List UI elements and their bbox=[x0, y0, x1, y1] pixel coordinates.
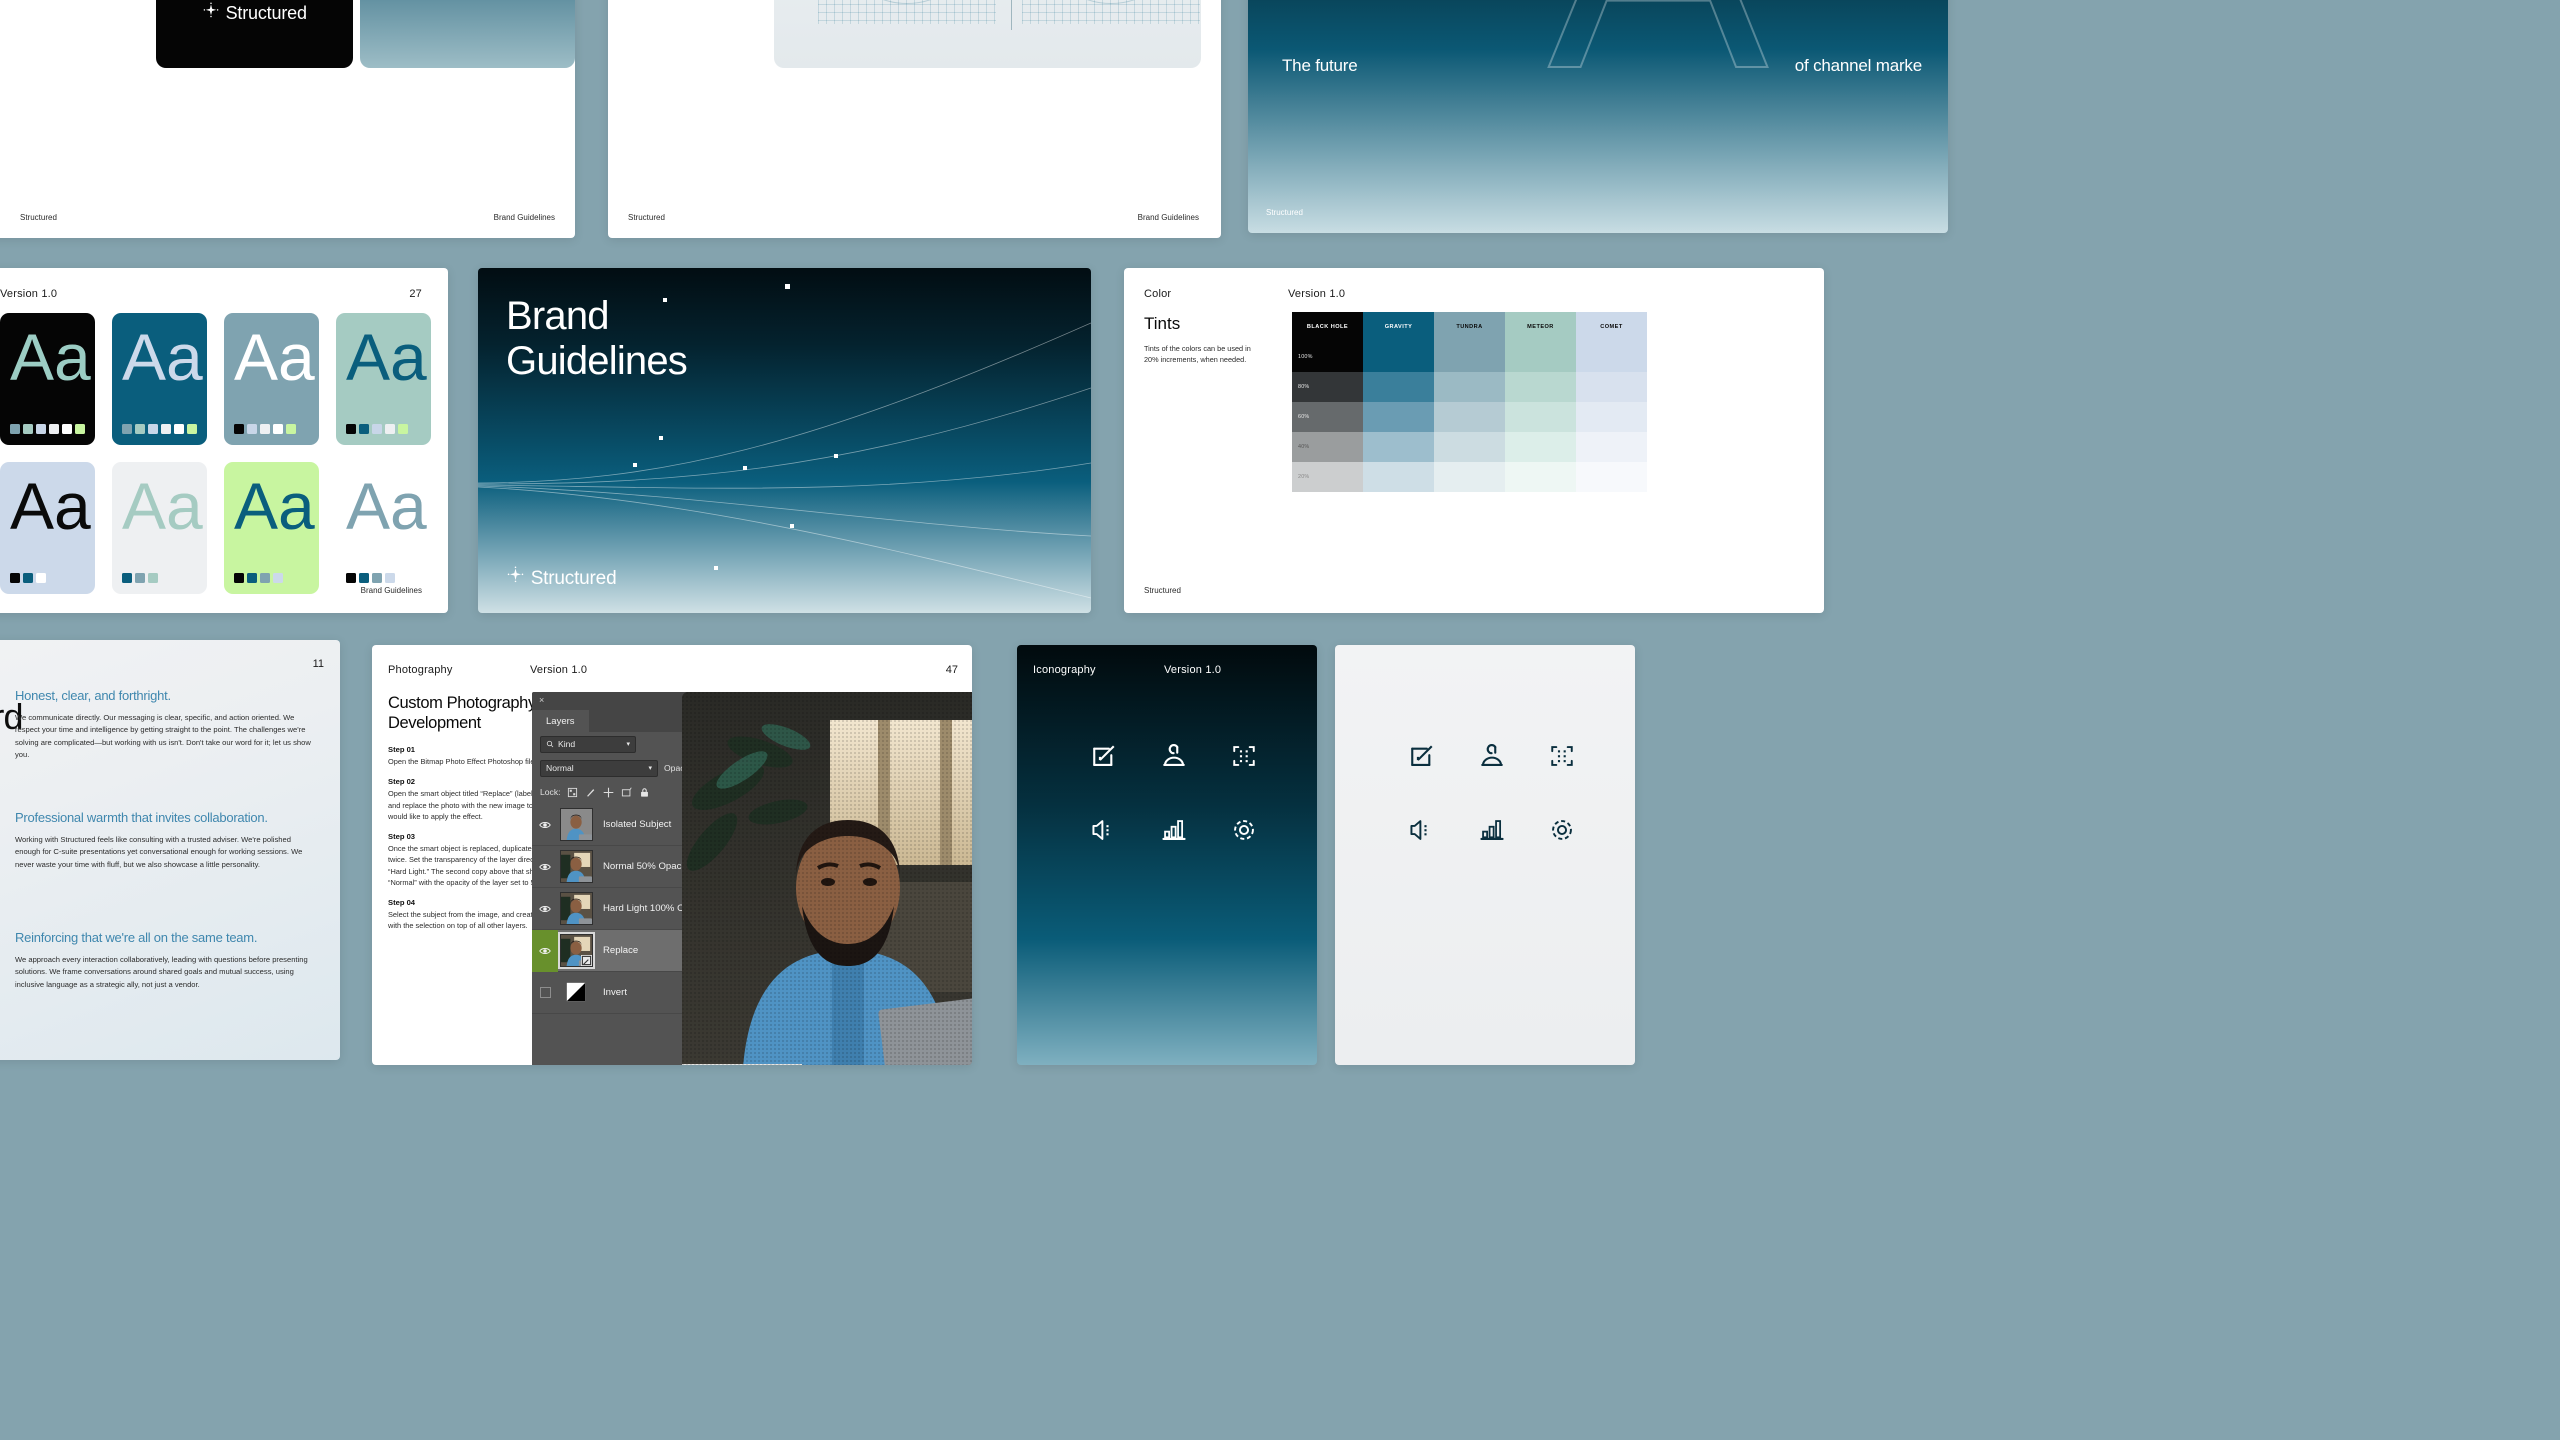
blend-mode-select[interactable]: Normal ▾ bbox=[540, 760, 658, 777]
wordmark-text: Structured bbox=[226, 3, 307, 24]
color-swatch bbox=[385, 424, 395, 434]
headline-left: The future bbox=[1282, 56, 1358, 76]
layer-thumbnail bbox=[560, 850, 593, 883]
tint-cell: 20% bbox=[1292, 462, 1363, 492]
cover-title-line1: Brand bbox=[506, 294, 687, 339]
color-swatch bbox=[148, 424, 158, 434]
slide-page-number: 27 bbox=[409, 288, 422, 300]
slide-footer-brand: Structured bbox=[1266, 208, 1303, 217]
slide-footer-doc: Brand Guidelines bbox=[361, 586, 422, 595]
logo-card-dark: Structured bbox=[156, 0, 353, 68]
tint-cell bbox=[1434, 342, 1505, 372]
color-swatch bbox=[398, 424, 408, 434]
tint-column: GRAVITY bbox=[1363, 312, 1434, 492]
headline-text: The future of channel marke bbox=[1282, 56, 1922, 76]
type-color-card[interactable]: Aa bbox=[112, 462, 207, 594]
type-card-swatches bbox=[10, 573, 46, 583]
tint-cell bbox=[1434, 372, 1505, 402]
tints-description: Tints of the colors can be used in 20% i… bbox=[1144, 344, 1264, 366]
chevron-down-icon: ▾ bbox=[626, 740, 630, 748]
tint-column-header: TUNDRA bbox=[1434, 312, 1505, 342]
slide-headline-gradient[interactable]: A The future of channel marke Structured bbox=[1248, 0, 1948, 233]
slide-iconography-dark[interactable]: Iconography Version 1.0 bbox=[1017, 645, 1317, 1065]
tint-cell bbox=[1505, 462, 1576, 492]
tint-cell bbox=[1576, 372, 1647, 402]
tint-cell: 100% bbox=[1292, 342, 1363, 372]
slide-cover[interactable]: Brand Guidelines Structured bbox=[478, 268, 1091, 613]
layer-thumbnail bbox=[560, 976, 593, 1009]
lock-position-icon[interactable] bbox=[603, 787, 614, 798]
color-swatch bbox=[359, 424, 369, 434]
icon-construction-panel: 3 boxes thick 36 bbox=[774, 0, 1201, 68]
color-swatch bbox=[234, 424, 244, 434]
type-sample-aa: Aa bbox=[234, 317, 315, 398]
tint-cell bbox=[1434, 402, 1505, 432]
color-swatch bbox=[135, 573, 145, 583]
color-swatch bbox=[49, 424, 59, 434]
edit-note-icon bbox=[836, 0, 978, 2]
scan-frame-icon bbox=[1549, 743, 1575, 769]
color-swatch bbox=[187, 424, 197, 434]
layer-name: Isolated Subject bbox=[603, 819, 671, 830]
color-swatch bbox=[372, 424, 382, 434]
type-color-card[interactable]: Aa bbox=[0, 462, 95, 594]
filter-kind-select[interactable]: Kind ▾ bbox=[540, 736, 636, 753]
sparkle-icon bbox=[506, 566, 525, 591]
eye-visible-icon[interactable] bbox=[532, 930, 558, 972]
tint-column-header: COMET bbox=[1576, 312, 1647, 342]
color-swatch bbox=[273, 424, 283, 434]
tab-layers[interactable]: Layers bbox=[532, 710, 589, 732]
tint-row-label: 40% bbox=[1298, 444, 1309, 450]
slide-icon-construction[interactable]: boxes thick. All icons should be a singl… bbox=[608, 0, 1221, 238]
type-card-swatches bbox=[346, 424, 408, 434]
slide-logo-usage[interactable]: (two of our branded colors). Always sele… bbox=[0, 0, 575, 238]
color-swatch bbox=[135, 424, 145, 434]
color-swatch bbox=[346, 573, 356, 583]
color-swatch bbox=[372, 573, 382, 583]
tint-row-label: 100% bbox=[1298, 354, 1313, 360]
tint-cell bbox=[1576, 432, 1647, 462]
lock-all-icon[interactable] bbox=[639, 787, 650, 798]
color-swatch bbox=[385, 573, 395, 583]
logo-lockup-dark: Structured bbox=[202, 2, 307, 25]
slide-footer-doc: Brand Guidelines bbox=[1138, 213, 1199, 222]
type-card-swatches bbox=[122, 424, 197, 434]
search-icon bbox=[546, 740, 554, 748]
slide-voice-and-tone[interactable]: 11 StraightforwardHonest, clear, and for… bbox=[0, 640, 340, 1060]
tint-cell bbox=[1505, 342, 1576, 372]
color-swatch bbox=[260, 424, 270, 434]
color-swatch bbox=[174, 424, 184, 434]
voice-attribute-heading: Reinforcing that we're all on the same t… bbox=[15, 930, 257, 945]
slide-eyebrow-section: Iconography bbox=[1033, 664, 1096, 676]
type-sample-aa: Aa bbox=[10, 466, 91, 547]
type-sample-aa: Aa bbox=[122, 466, 203, 547]
slide-footer-brand: Structured bbox=[1144, 586, 1181, 595]
type-sample-aa: Aa bbox=[346, 317, 427, 398]
tint-cell bbox=[1363, 372, 1434, 402]
headline-right: of channel marke bbox=[1795, 56, 1922, 76]
cover-title-line2: Guidelines bbox=[506, 339, 687, 384]
color-swatch bbox=[10, 573, 20, 583]
type-card-swatches bbox=[10, 424, 85, 434]
voice-attribute-heading: Honest, clear, and forthright. bbox=[15, 688, 171, 703]
volume-speaker-icon bbox=[1091, 817, 1117, 843]
lock-transparent-icon[interactable] bbox=[567, 787, 578, 798]
layer-name: Invert bbox=[603, 987, 627, 998]
page-title: Tints bbox=[1144, 314, 1180, 334]
color-swatch bbox=[247, 573, 257, 583]
slide-page-number: 47 bbox=[946, 664, 958, 676]
tint-column-header: GRAVITY bbox=[1363, 312, 1434, 342]
color-swatch bbox=[161, 424, 171, 434]
eye-visible-icon[interactable] bbox=[532, 804, 558, 846]
target-settings-icon bbox=[1231, 817, 1257, 843]
color-swatch bbox=[148, 573, 158, 583]
color-swatch bbox=[36, 424, 46, 434]
bar-chart-icon bbox=[1161, 817, 1187, 843]
wordmark-text: Structured bbox=[531, 568, 617, 590]
layer-thumbnail bbox=[560, 892, 593, 925]
type-sample-aa: Aa bbox=[346, 466, 427, 547]
cover-logo: Structured bbox=[506, 566, 616, 591]
tint-cell bbox=[1363, 462, 1434, 492]
close-icon[interactable]: × bbox=[539, 695, 544, 705]
layer-thumbnail bbox=[560, 808, 593, 841]
type-color-card[interactable]: Aa bbox=[224, 313, 319, 445]
type-card-swatches bbox=[346, 573, 395, 583]
tint-cell bbox=[1505, 402, 1576, 432]
type-sample-aa: Aa bbox=[234, 466, 315, 547]
tint-column: BLACK HOLE100%80%60%40%20% bbox=[1292, 312, 1363, 492]
tint-cell bbox=[1505, 432, 1576, 462]
layer-name: Replace bbox=[603, 945, 638, 956]
slide-eyebrow-section: Color bbox=[1144, 288, 1171, 300]
slide-iconography-light[interactable] bbox=[1335, 645, 1635, 1065]
edit-note-icon bbox=[1409, 743, 1435, 769]
eye-hidden-checkbox[interactable] bbox=[532, 972, 558, 1014]
lock-label: Lock: bbox=[540, 787, 561, 797]
user-profile-icon bbox=[1161, 743, 1187, 769]
color-swatch bbox=[23, 573, 33, 583]
voice-attribute-body: Working with Structured feels like consu… bbox=[15, 834, 315, 871]
layer-name: Normal 50% Opacity bbox=[603, 861, 691, 872]
slide-eyebrow-version: Version 1.0 bbox=[0, 288, 57, 300]
edit-note-icon bbox=[1091, 743, 1117, 769]
eye-visible-icon[interactable] bbox=[532, 888, 558, 930]
chevron-down-icon: ▾ bbox=[648, 764, 652, 772]
tint-row-label: 20% bbox=[1298, 474, 1309, 480]
slide-footer-brand: Structured bbox=[628, 213, 665, 222]
tint-cell bbox=[1576, 402, 1647, 432]
type-sample-aa: Aa bbox=[122, 317, 203, 398]
voice-attribute-body: We communicate directly. Our messaging i… bbox=[15, 712, 315, 761]
tint-row-label: 60% bbox=[1298, 414, 1309, 420]
color-swatch bbox=[62, 424, 72, 434]
tint-cell bbox=[1505, 372, 1576, 402]
tint-cell: 80% bbox=[1292, 372, 1363, 402]
color-swatch bbox=[36, 573, 46, 583]
blend-mode-value: Normal bbox=[546, 763, 574, 773]
type-color-card[interactable]: Aa bbox=[336, 462, 431, 594]
tint-row-label: 80% bbox=[1298, 384, 1309, 390]
color-swatch bbox=[260, 573, 270, 583]
voice-attribute-body: We approach every interaction collaborat… bbox=[15, 954, 315, 991]
user-profile-icon bbox=[1479, 743, 1505, 769]
typography-card-grid: AaAaAaAaAaAaAaAa bbox=[0, 313, 431, 594]
color-swatch bbox=[346, 424, 356, 434]
type-card-swatches bbox=[234, 424, 296, 434]
color-swatch bbox=[122, 424, 132, 434]
color-swatch bbox=[234, 573, 244, 583]
color-swatch bbox=[247, 424, 257, 434]
slide-color-tints[interactable]: Color Version 1.0 Tints Tints of the col… bbox=[1124, 268, 1824, 613]
tints-table: BLACK HOLE100%80%60%40%20%GRAVITYTUNDRAM… bbox=[1292, 312, 1647, 492]
slide-page-number: 11 bbox=[313, 658, 324, 670]
color-swatch bbox=[286, 424, 296, 434]
color-swatch bbox=[273, 573, 283, 583]
layer-thumbnail bbox=[560, 934, 593, 967]
filter-kind-label: Kind bbox=[558, 739, 575, 749]
tint-column: METEOR bbox=[1505, 312, 1576, 492]
eye-visible-icon[interactable] bbox=[532, 846, 558, 888]
scan-frame-icon bbox=[1231, 743, 1257, 769]
measure-divider bbox=[1011, 0, 1012, 30]
color-swatch bbox=[10, 424, 20, 434]
cover-title: Brand Guidelines bbox=[506, 294, 687, 384]
tint-cell bbox=[1434, 462, 1505, 492]
color-swatch bbox=[122, 573, 132, 583]
photography-sample-image bbox=[682, 692, 972, 1065]
tint-cell bbox=[1363, 342, 1434, 372]
tint-column-header: METEOR bbox=[1505, 312, 1576, 342]
tint-cell: 60% bbox=[1292, 402, 1363, 432]
color-swatch bbox=[75, 424, 85, 434]
slide-eyebrow-version: Version 1.0 bbox=[530, 664, 587, 676]
tint-cell bbox=[1363, 432, 1434, 462]
icon-showcase-grid-light bbox=[1387, 719, 1597, 867]
icon-showcase-grid bbox=[1069, 719, 1279, 867]
color-swatch bbox=[23, 424, 33, 434]
slide-eyebrow-section: Photography bbox=[388, 664, 453, 676]
bar-chart-icon bbox=[1479, 817, 1505, 843]
type-sample-aa: Aa bbox=[10, 317, 91, 398]
slide-footer-doc: Brand Guidelines bbox=[494, 213, 555, 222]
lock-paint-icon[interactable] bbox=[585, 787, 596, 798]
slide-eyebrow-version: Version 1.0 bbox=[1164, 664, 1221, 676]
tint-column: COMET bbox=[1576, 312, 1647, 492]
slide-board: (two of our branded colors). Always sele… bbox=[0, 0, 2560, 1440]
tint-column-header: BLACK HOLE bbox=[1292, 312, 1363, 342]
lock-artboard-icon[interactable] bbox=[621, 787, 632, 798]
slide-eyebrow-version: Version 1.0 bbox=[1288, 288, 1345, 300]
tint-cell bbox=[1363, 402, 1434, 432]
target-settings-icon bbox=[1549, 817, 1575, 843]
tint-cell: 40% bbox=[1292, 432, 1363, 462]
tint-cell bbox=[1576, 462, 1647, 492]
slide-footer-brand: Structured bbox=[20, 213, 57, 222]
sparkle-icon bbox=[202, 2, 220, 25]
type-color-card[interactable]: Aa bbox=[112, 313, 207, 445]
type-color-card[interactable]: Aa bbox=[224, 462, 319, 594]
voice-attribute-heading: Professional warmth that invites collabo… bbox=[15, 810, 268, 825]
slide-photography[interactable]: Photography Version 1.0 47 Custom Photog… bbox=[372, 645, 972, 1065]
volume-speaker-icon bbox=[1409, 817, 1435, 843]
logo-card-gradient: Structured bbox=[360, 0, 575, 68]
tint-column: TUNDRA bbox=[1434, 312, 1505, 492]
slide-typography-colors[interactable]: Version 1.0 27 AaAaAaAaAaAaAaAa Brand Gu… bbox=[0, 268, 448, 613]
tint-cell bbox=[1434, 432, 1505, 462]
type-card-swatches bbox=[234, 573, 283, 583]
tint-cell bbox=[1576, 342, 1647, 372]
type-color-card[interactable]: Aa bbox=[0, 313, 95, 445]
type-color-card[interactable]: Aa bbox=[336, 313, 431, 445]
color-swatch bbox=[359, 573, 369, 583]
type-card-swatches bbox=[122, 573, 158, 583]
